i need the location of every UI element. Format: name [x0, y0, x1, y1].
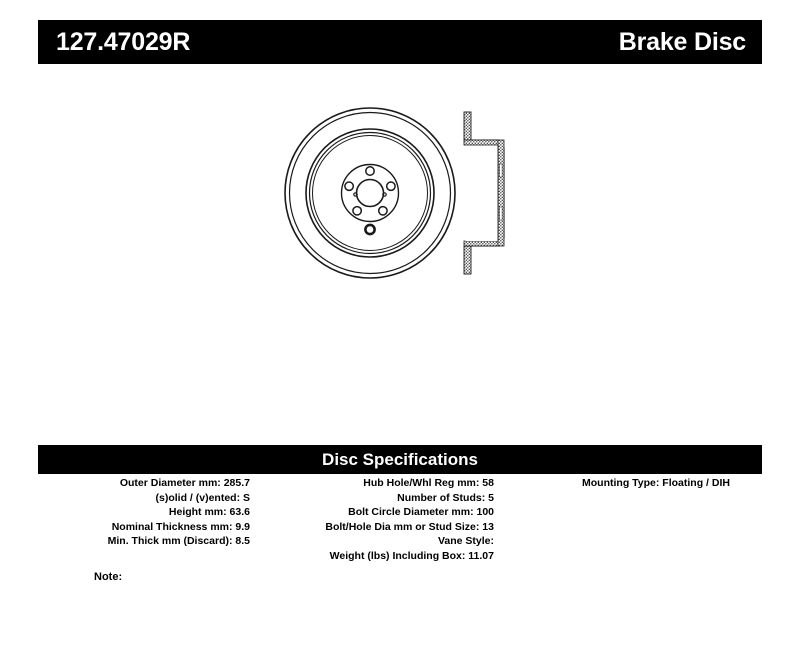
spec-mid-row: Bolt/Hole Dia mm or Stud Size: 13	[266, 520, 494, 535]
spec-mid-label: Bolt Circle Diameter mm:	[348, 506, 473, 518]
spec-mid-label: Vane Style:	[438, 535, 494, 547]
spec-left-value: S	[240, 492, 250, 504]
spec-right-label: Mounting Type:	[582, 477, 659, 489]
header-bar: 127.47029R Brake Disc	[38, 20, 762, 64]
spec-mid-label: Bolt/Hole Dia mm or Stud Size:	[325, 521, 479, 533]
spec-left-label: Outer Diameter mm:	[120, 477, 221, 489]
spec-left-row: Height mm: 63.6	[38, 505, 250, 520]
spec-mid-label: Hub Hole/Whl Reg mm:	[363, 477, 479, 489]
disc-specifications-header-bar: Disc Specifications	[38, 445, 762, 474]
spec-mid-value: 58	[479, 477, 494, 489]
spec-mid-value: 11.07	[465, 550, 494, 562]
alignment-pin-hole-group	[354, 193, 386, 196]
spec-column-middle: Hub Hole/Whl Reg mm: 58Number of Studs: …	[266, 476, 494, 564]
spec-mid-row: Vane Style:	[266, 534, 494, 549]
note-value	[122, 571, 126, 583]
spec-right-value: Floating / DIH	[659, 477, 730, 489]
spec-left-row: Nominal Thickness mm: 9.9	[38, 520, 250, 535]
brake-disc-face-view-icon	[282, 105, 458, 281]
extraction-hole	[365, 225, 374, 234]
specifications-columns: Outer Diameter mm: 285.7(s)olid / (v)ent…	[38, 476, 762, 586]
spec-left-row: Min. Thick mm (Discard): 8.5	[38, 534, 250, 549]
spec-mid-row: Number of Studs: 5	[266, 491, 494, 506]
technical-drawing-area	[0, 80, 800, 410]
spec-column-left: Outer Diameter mm: 285.7(s)olid / (v)ent…	[38, 476, 250, 549]
spec-mid-label: Number of Studs:	[397, 492, 485, 504]
spec-left-value: 285.7	[221, 477, 250, 489]
note-block: Note:	[94, 571, 126, 583]
part-number-label: 127.47029R	[56, 30, 190, 55]
spec-left-value: 63.6	[227, 506, 250, 518]
spec-mid-row: Weight (lbs) Including Box: 11.07	[266, 549, 494, 564]
spec-column-right: Mounting Type: Floating / DIH	[538, 476, 762, 491]
spec-mid-value: 5	[485, 492, 494, 504]
spec-mid-value: 13	[479, 521, 494, 533]
disc-specifications-title: Disc Specifications	[322, 451, 478, 468]
spec-left-label: Min. Thick mm (Discard):	[108, 535, 233, 547]
spec-mid-row: Hub Hole/Whl Reg mm: 58	[266, 476, 494, 491]
stud-hole-group	[345, 167, 395, 215]
spec-left-value: 8.5	[232, 535, 250, 547]
spec-mid-label: Weight (lbs) Including Box:	[330, 550, 466, 562]
spec-left-value: 9.9	[232, 521, 250, 533]
spec-left-row: (s)olid / (v)ented: S	[38, 491, 250, 506]
spec-right-row: Mounting Type: Floating / DIH	[538, 476, 762, 491]
spec-left-label: Height mm:	[169, 506, 227, 518]
brake-disc-edge-cross-section-icon	[452, 102, 528, 284]
spec-left-label: (s)olid / (v)ented:	[155, 492, 240, 504]
spec-mid-row: Bolt Circle Diameter mm: 100	[266, 505, 494, 520]
spec-left-label: Nominal Thickness mm:	[112, 521, 233, 533]
spec-mid-value: 100	[474, 506, 494, 518]
product-title-label: Brake Disc	[619, 30, 746, 55]
spec-left-row: Outer Diameter mm: 285.7	[38, 476, 250, 491]
note-label: Note:	[94, 571, 122, 583]
